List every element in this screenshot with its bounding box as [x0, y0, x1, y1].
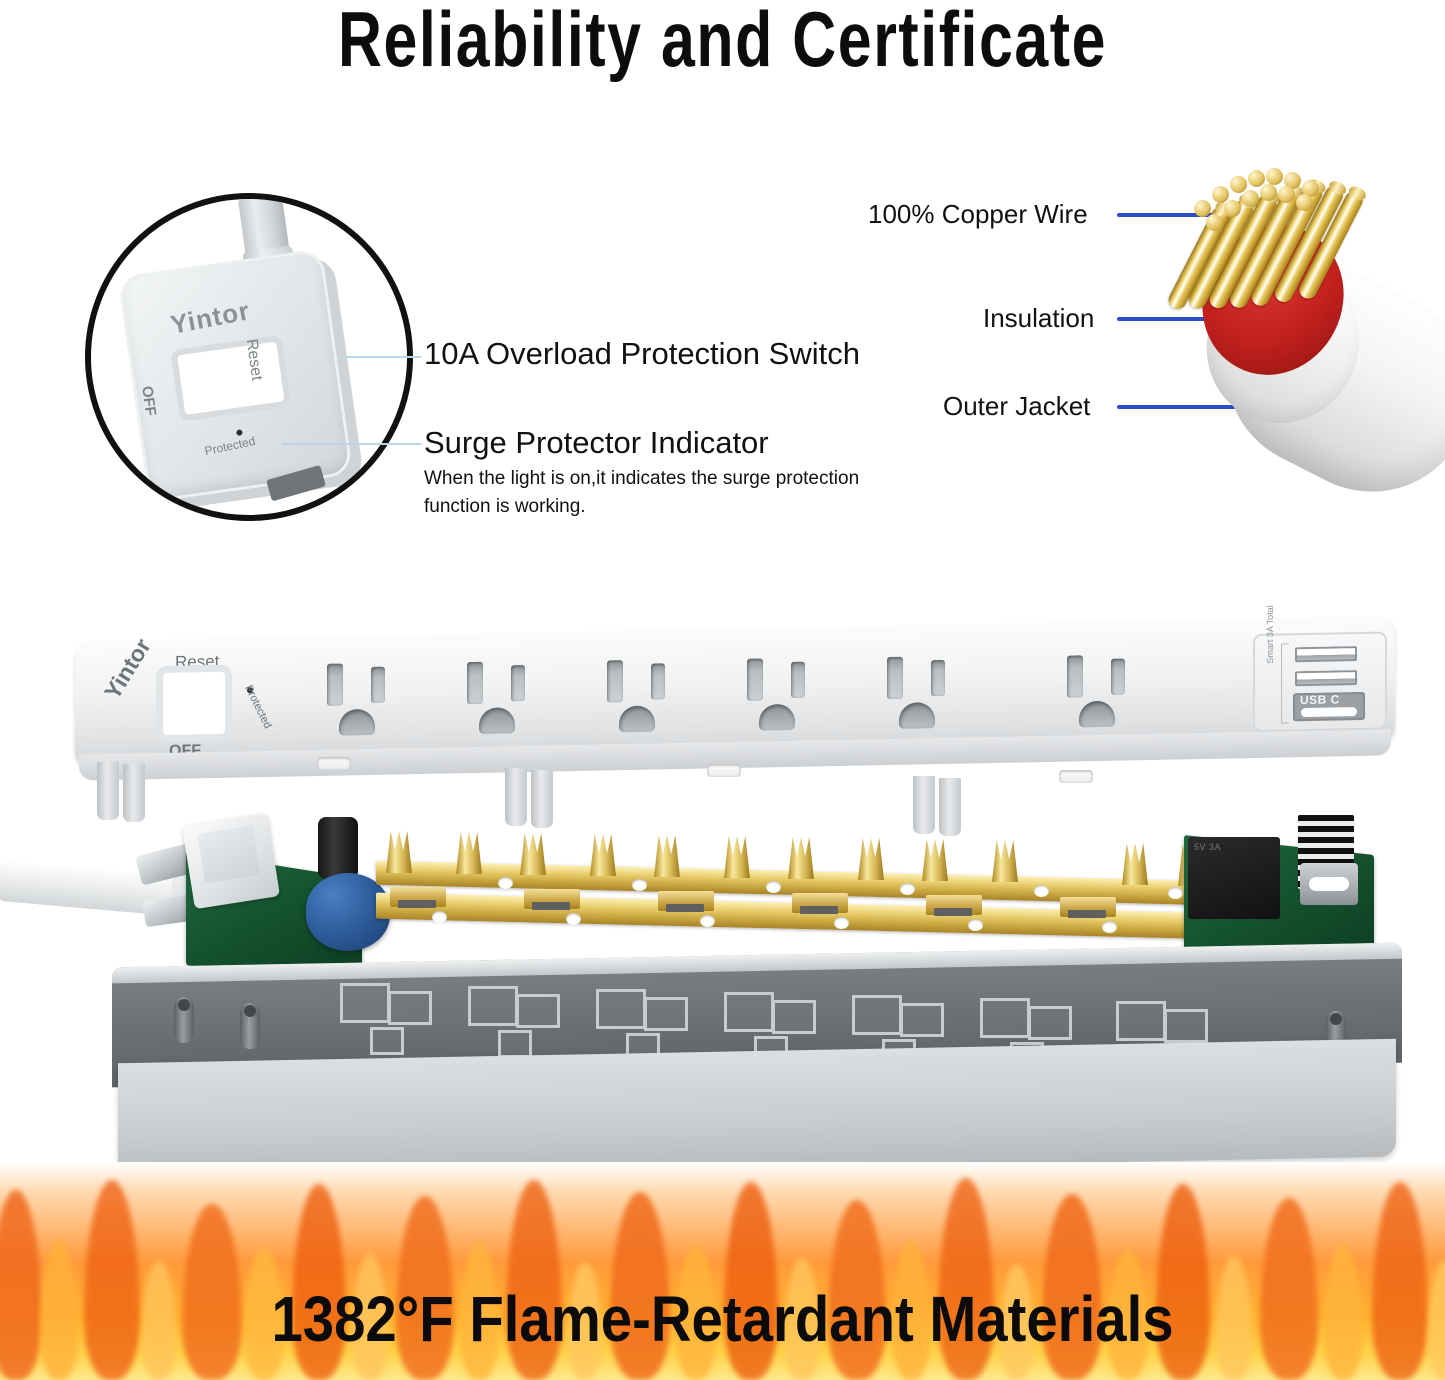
callout-title-surge: Surge Protector Indicator [424, 425, 769, 461]
keyhole-slot [317, 757, 351, 770]
outlet-rib [772, 1000, 816, 1034]
outlet-rib [1028, 1006, 1072, 1040]
outlet-ground-hole [619, 706, 655, 733]
breaker-window [177, 342, 284, 415]
outlet-slot-neutral [327, 664, 343, 706]
outlet-rib [644, 997, 688, 1031]
brand-logo: Yintor [168, 295, 253, 341]
contact-clip [654, 835, 680, 877]
outlet-rib [980, 998, 1030, 1038]
wire-label-insulation: Insulation [983, 303, 1094, 334]
outlet-rib [852, 995, 902, 1035]
keyhole-slot [707, 764, 741, 777]
contact-clip [724, 836, 750, 878]
outlet-contact [792, 893, 848, 913]
leader-line-surge [282, 443, 421, 445]
cable-cross-section [1168, 160, 1445, 500]
leader-line-overload [345, 356, 421, 358]
contact-clip [858, 838, 884, 880]
capacitor [318, 817, 358, 879]
strip-brand-logo: Yintor [99, 634, 157, 704]
wire-label-jacket: Outer Jacket [943, 391, 1090, 422]
outlet-contact [926, 895, 982, 915]
flame-retardant-title: 1382°F Flame-Retardant Materials [87, 1282, 1359, 1356]
usb-c-port[interactable]: USB C [1293, 692, 1365, 721]
ac-outlet[interactable] [735, 649, 829, 729]
power-strip-bottom-shell [112, 955, 1402, 1175]
ac-outlet[interactable] [1055, 646, 1149, 726]
outlet-ground-hole [1079, 701, 1115, 728]
outlet-ground-hole [899, 702, 935, 729]
outlet-slot-hot [1111, 659, 1125, 695]
contact-clip [1122, 843, 1148, 885]
strip-reset-label: Reset [175, 652, 219, 673]
outlet-contact [658, 891, 714, 911]
switch-body: Yintor Reset OFF Protected [118, 247, 363, 510]
outlet-ground-hole [759, 704, 795, 731]
strip-protected-label: Protected [242, 683, 273, 730]
outlet-rib [498, 1030, 532, 1058]
contact-clip [456, 832, 482, 874]
mounting-post [97, 762, 119, 820]
usb-c-connector [1300, 863, 1358, 905]
protected-led-icon [236, 429, 243, 436]
outlet-slot-hot [931, 660, 945, 696]
outlet-rib [1116, 1001, 1166, 1041]
protected-label: Protected [203, 434, 256, 458]
outlet-rib [724, 992, 774, 1032]
ac-outlet[interactable] [315, 654, 409, 734]
screw-post [240, 1003, 260, 1049]
outlet-rib [516, 994, 560, 1028]
usb-c-label: USB C [1300, 692, 1340, 707]
page-title: Reliability and Certificate [159, 0, 1286, 85]
outlet-slot-hot [651, 663, 665, 699]
usb-smart-label: Smart 3A Total [1265, 605, 1275, 664]
outlet-contact [1060, 897, 1116, 917]
ac-outlet[interactable] [455, 653, 549, 733]
ac-outlet[interactable] [595, 651, 689, 731]
strip-breaker-button[interactable] [163, 672, 225, 735]
outlet-slot-neutral [887, 657, 903, 699]
outlet-contact [524, 889, 580, 909]
circuit-breaker-switch [182, 813, 280, 909]
contact-clip [922, 839, 948, 881]
outlet-rib [900, 1003, 944, 1037]
contact-clip [788, 837, 814, 879]
power-strip-top-cover: Yintor Reset OFF Protected [75, 630, 1395, 805]
outlet-slot-hot [371, 667, 385, 703]
ac-outlet[interactable] [875, 648, 969, 728]
outlet-slot-neutral [1067, 655, 1083, 697]
usb-c-slot [1301, 707, 1357, 717]
outlet-rib [596, 989, 646, 1029]
callout-title-overload: 10A Overload Protection Switch [424, 336, 860, 372]
wire-label-copper: 100% Copper Wire [868, 199, 1088, 230]
mounting-post [123, 764, 145, 822]
off-label: OFF [138, 385, 159, 417]
outlet-slot-neutral [467, 662, 483, 704]
contact-clip [590, 834, 616, 876]
keyhole-slot [1059, 770, 1093, 783]
shell-exterior [118, 1039, 1396, 1182]
outlet-rib [370, 1027, 404, 1055]
screw-post [174, 997, 194, 1043]
outlet-slot-hot [791, 662, 805, 698]
outlet-rib [468, 986, 518, 1026]
outlet-rib [1164, 1009, 1208, 1043]
contact-clip [520, 833, 546, 875]
outlet-slot-neutral [747, 658, 763, 700]
copper-strand-ends [1186, 166, 1356, 286]
usb-silkscreen: 5V 3A [1194, 842, 1221, 852]
usb-a-port[interactable] [1295, 646, 1357, 662]
outlet-slot-hot [511, 665, 525, 701]
contact-clip [386, 831, 412, 873]
outlet-ground-hole [479, 707, 515, 734]
outlet-slot-neutral [607, 660, 623, 702]
usb-a-port[interactable] [1295, 670, 1357, 686]
callout-desc-surge: When the light is on,it indicates the su… [424, 465, 894, 521]
outlet-rib [340, 983, 390, 1023]
usb-a-connector-block: 5V 3A [1188, 837, 1280, 919]
outlet-contact [390, 887, 446, 907]
outlet-ground-hole [339, 709, 375, 736]
contact-clip [992, 840, 1018, 882]
usb-bracket-icon [1281, 643, 1289, 723]
usb-charging-panel[interactable]: Smart 3A Total USB C [1253, 631, 1387, 732]
outlet-rib [388, 991, 432, 1025]
